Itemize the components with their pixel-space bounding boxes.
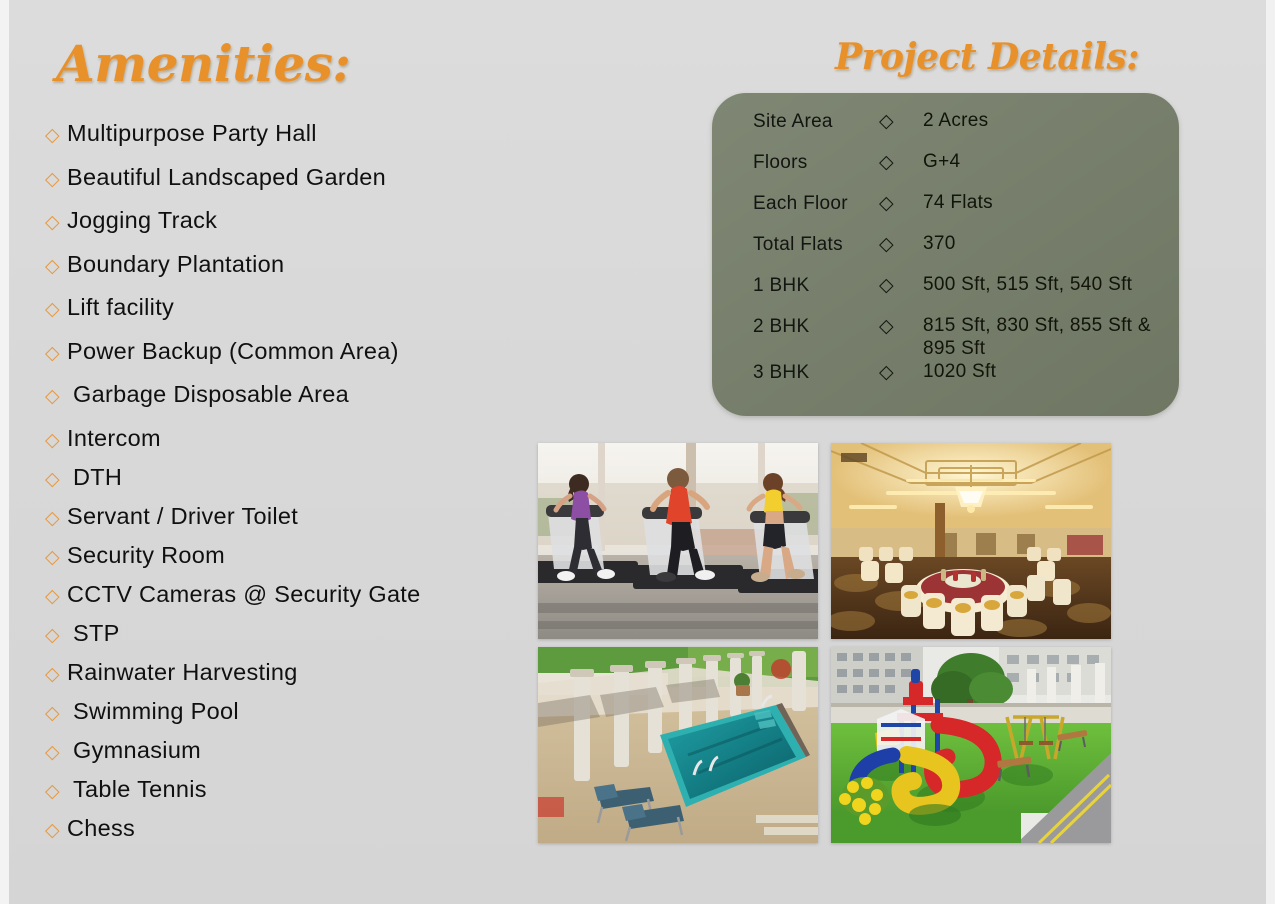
diamond-bullet-icon: ◇ xyxy=(45,587,67,606)
list-item-label: Rainwater Harvesting xyxy=(67,659,298,686)
table-row: Site Area ◇ 2 Acres xyxy=(753,109,1153,150)
diamond-bullet-icon: ◇ xyxy=(45,821,67,840)
list-item: ◇ Servant / Driver Toilet xyxy=(45,503,515,542)
diamond-bullet-icon: ◇ xyxy=(879,360,923,382)
amenities-list: ◇ Multipurpose Party Hall ◇ Beautiful La… xyxy=(45,120,515,854)
list-item: ◇ Table Tennis xyxy=(45,776,515,815)
swimming-pool-photo xyxy=(538,647,818,843)
detail-value: 2 Acres xyxy=(923,109,1153,132)
playground-photo xyxy=(831,647,1111,843)
list-item-label: Jogging Track xyxy=(67,207,217,234)
list-item: ◇ Boundary Plantation xyxy=(45,251,515,295)
diamond-bullet-icon: ◇ xyxy=(45,257,67,276)
diamond-bullet-icon: ◇ xyxy=(45,170,67,189)
list-item: ◇ Lift facility xyxy=(45,294,515,338)
detail-key: 1 BHK xyxy=(753,273,879,297)
list-item-label: CCTV Cameras @ Security Gate xyxy=(67,581,421,608)
detail-key: Site Area xyxy=(753,109,879,133)
list-item-label: Power Backup (Common Area) xyxy=(67,338,399,365)
diamond-bullet-icon: ◇ xyxy=(45,470,67,489)
detail-value: 1020 Sft xyxy=(923,360,1153,383)
list-item-label: Garbage Disposable Area xyxy=(67,381,349,408)
diamond-bullet-icon: ◇ xyxy=(45,704,67,723)
diamond-bullet-icon: ◇ xyxy=(879,150,923,172)
list-item-label: Table Tennis xyxy=(67,776,207,803)
list-item: ◇ Beautiful Landscaped Garden xyxy=(45,164,515,208)
list-item: ◇ DTH xyxy=(45,464,515,503)
list-item-label: Swimming Pool xyxy=(67,698,239,725)
detail-value: 370 xyxy=(923,232,1153,255)
list-item: ◇ CCTV Cameras @ Security Gate xyxy=(45,581,515,620)
diamond-bullet-icon: ◇ xyxy=(45,509,67,528)
diamond-bullet-icon: ◇ xyxy=(879,314,923,336)
gymnasium-photo xyxy=(538,443,818,639)
diamond-bullet-icon: ◇ xyxy=(45,431,67,450)
list-item-label: Multipurpose Party Hall xyxy=(67,120,317,147)
detail-value: G+4 xyxy=(923,150,1153,173)
project-details-table: Site Area ◇ 2 Acres Floors ◇ G+4 Each Fl… xyxy=(753,109,1153,401)
table-row: Floors ◇ G+4 xyxy=(753,150,1153,191)
list-item-label: Lift facility xyxy=(67,294,174,321)
list-item: ◇ Gymnasium xyxy=(45,737,515,776)
detail-key: Each Floor xyxy=(753,191,879,215)
table-row: 2 BHK ◇ 815 Sft, 830 Sft, 855 Sft & 895 … xyxy=(753,314,1153,360)
table-row: Each Floor ◇ 74 Flats xyxy=(753,191,1153,232)
list-item: ◇ Rainwater Harvesting xyxy=(45,659,515,698)
list-item: ◇ Multipurpose Party Hall xyxy=(45,120,515,164)
list-item: ◇ STP xyxy=(45,620,515,659)
diamond-bullet-icon: ◇ xyxy=(45,344,67,363)
list-item-label: Security Room xyxy=(67,542,225,569)
list-item-label: DTH xyxy=(67,464,122,491)
list-item: ◇ Power Backup (Common Area) xyxy=(45,338,515,382)
list-item-label: STP xyxy=(67,620,120,647)
detail-key: 3 BHK xyxy=(753,360,879,384)
diamond-bullet-icon: ◇ xyxy=(45,387,67,406)
list-item-label: Chess xyxy=(67,815,135,842)
list-item-label: Beautiful Landscaped Garden xyxy=(67,164,386,191)
list-item: ◇ Garbage Disposable Area xyxy=(45,381,515,425)
list-item-label: Servant / Driver Toilet xyxy=(67,503,298,530)
list-item: ◇ Chess xyxy=(45,815,515,854)
diamond-bullet-icon: ◇ xyxy=(879,109,923,131)
project-details-title: Project Details: xyxy=(835,36,1139,78)
detail-value: 815 Sft, 830 Sft, 855 Sft & 895 Sft xyxy=(923,314,1153,360)
amenity-photo-grid xyxy=(538,443,1111,843)
list-item: ◇ Security Room xyxy=(45,542,515,581)
diamond-bullet-icon: ◇ xyxy=(45,126,67,145)
diamond-bullet-icon: ◇ xyxy=(45,782,67,801)
detail-key: 2 BHK xyxy=(753,314,879,338)
table-row: 3 BHK ◇ 1020 Sft xyxy=(753,360,1153,401)
diamond-bullet-icon: ◇ xyxy=(879,232,923,254)
diamond-bullet-icon: ◇ xyxy=(45,300,67,319)
diamond-bullet-icon: ◇ xyxy=(45,665,67,684)
party-hall-photo xyxy=(831,443,1111,639)
list-item: ◇ Jogging Track xyxy=(45,207,515,251)
diamond-bullet-icon: ◇ xyxy=(45,626,67,645)
diamond-bullet-icon: ◇ xyxy=(45,548,67,567)
list-item: ◇ Swimming Pool xyxy=(45,698,515,737)
detail-key: Total Flats xyxy=(753,232,879,256)
detail-value: 74 Flats xyxy=(923,191,1153,214)
list-item-label: Gymnasium xyxy=(67,737,201,764)
detail-value: 500 Sft, 515 Sft, 540 Sft xyxy=(923,273,1153,296)
diamond-bullet-icon: ◇ xyxy=(879,191,923,213)
table-row: Total Flats ◇ 370 xyxy=(753,232,1153,273)
diamond-bullet-icon: ◇ xyxy=(879,273,923,295)
diamond-bullet-icon: ◇ xyxy=(45,213,67,232)
amenities-title: Amenities: xyxy=(56,34,350,93)
brochure-slide: Amenities: ◇ Multipurpose Party Hall ◇ B… xyxy=(0,0,1275,904)
table-row: 1 BHK ◇ 500 Sft, 515 Sft, 540 Sft xyxy=(753,273,1153,314)
diamond-bullet-icon: ◇ xyxy=(45,743,67,762)
detail-key: Floors xyxy=(753,150,879,174)
list-item: ◇ Intercom xyxy=(45,425,515,464)
list-item-label: Intercom xyxy=(67,425,161,452)
project-details-panel: Site Area ◇ 2 Acres Floors ◇ G+4 Each Fl… xyxy=(712,93,1179,416)
list-item-label: Boundary Plantation xyxy=(67,251,284,278)
